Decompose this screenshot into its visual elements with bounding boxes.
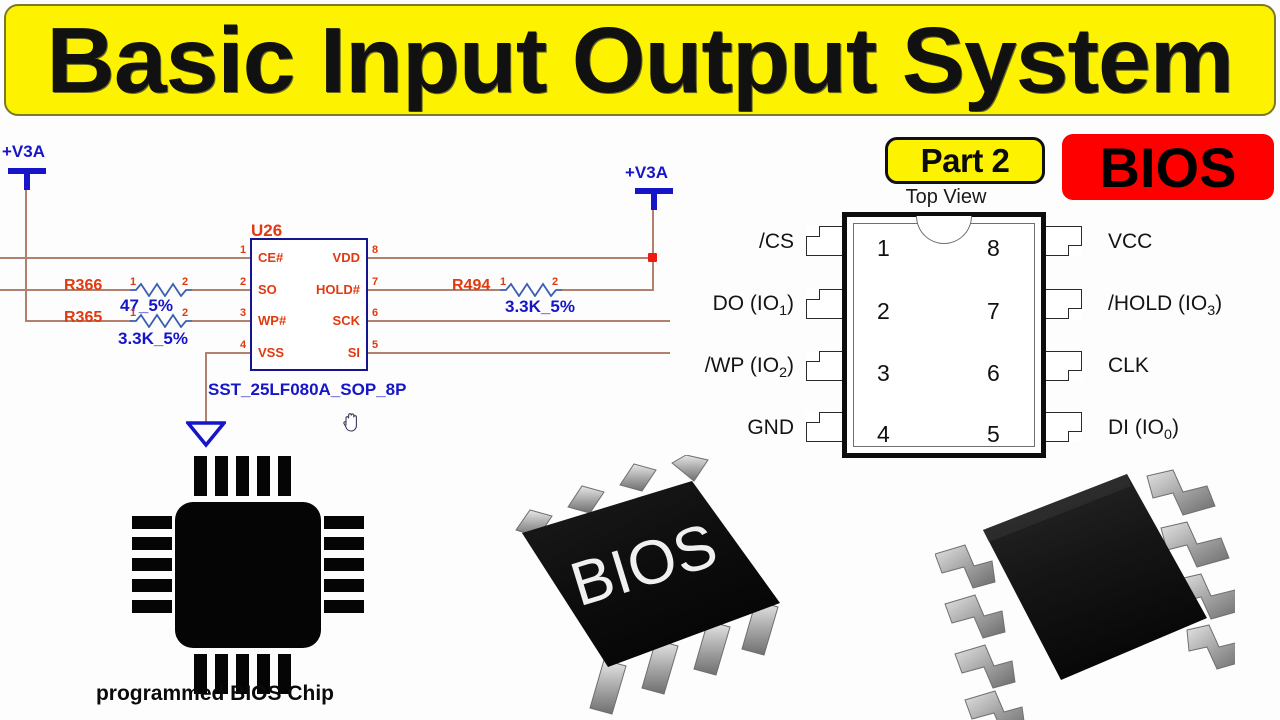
wire-sck-net	[368, 320, 670, 322]
resistor-r494-symbol	[500, 281, 562, 297]
pinout-label-gnd: GND	[616, 417, 794, 438]
part-badge-label: Part 2	[921, 142, 1010, 180]
pinout-label-clk: CLK	[1108, 355, 1149, 376]
resistor-r366-symbol	[130, 281, 192, 297]
pinout-label-wp: /WP (IO2)	[616, 355, 794, 380]
wire-r366-to-pin2	[192, 289, 250, 291]
pinout-lead-2	[806, 289, 842, 319]
chip-pinname-sck: SCK	[300, 314, 360, 327]
screenshot-root: Basic Input Output System Part 2 BIOS +V…	[0, 0, 1280, 720]
ground-symbol	[186, 420, 226, 448]
programmed-bios-chip-icon	[120, 450, 376, 678]
wire-r365-to-pin3	[192, 320, 250, 322]
pinout-view-label: Top View	[881, 186, 1011, 209]
pinout-number-5: 5	[987, 423, 1000, 446]
wire-net-ce	[0, 257, 250, 259]
chip-pinname-vdd: VDD	[300, 251, 360, 264]
resistor-r365-value: 3.3K_5%	[118, 330, 188, 347]
power-symbol-left	[8, 168, 46, 192]
pinout-number-8: 8	[987, 237, 1000, 260]
pinout-label-di: DI (IO0)	[1108, 417, 1179, 442]
chip-pinnum-3: 3	[240, 308, 246, 319]
chip-pinnum-5: 5	[372, 340, 378, 351]
chip-pinname-vss: VSS	[258, 346, 284, 359]
chip-pinname-si: SI	[300, 346, 360, 359]
pinout-lead-8	[1046, 226, 1082, 256]
pinout-lead-1	[806, 226, 842, 256]
chip-pinname-so: SO	[258, 283, 277, 296]
power-symbol-right	[635, 188, 673, 212]
hand-cursor-icon	[341, 411, 361, 433]
bios-badge: BIOS	[1062, 134, 1274, 200]
pinout-number-6: 6	[987, 362, 1000, 385]
pinout-number-3: 3	[877, 362, 890, 385]
page-title: Basic Input Output System	[47, 14, 1234, 107]
chip-pinnum-2: 2	[240, 277, 246, 288]
resistor-r365-symbol	[130, 312, 192, 328]
pinout-lead-7	[1046, 289, 1082, 319]
pinout-number-4: 4	[877, 423, 890, 446]
pinout-number-2: 2	[877, 300, 890, 323]
chip-pinnum-8: 8	[372, 245, 378, 256]
pinout-label-do: DO (IO1)	[616, 293, 794, 318]
bios-chip-photo: BIOS	[480, 455, 810, 720]
power-label-left: +V3A	[2, 143, 45, 160]
soic8-chip-photo	[935, 458, 1235, 720]
wire-power-left-to-r365	[25, 320, 65, 322]
chip-pinname-hold: HOLD#	[296, 283, 360, 296]
resistor-r366-refdes: R366	[64, 278, 102, 294]
pinout-lead-3	[806, 351, 842, 381]
pinout-lead-5	[1046, 412, 1082, 442]
pinout-label-cs: /CS	[616, 231, 794, 252]
bios-badge-label: BIOS	[1100, 135, 1237, 200]
resistor-r494-refdes: R494	[452, 278, 490, 294]
chip-pinname-ce: CE#	[258, 251, 283, 264]
programmed-bios-chip-caption: programmed BIOS Chip	[40, 682, 390, 706]
resistor-r365-refdes: R365	[64, 310, 102, 326]
wire-vss-vertical	[205, 352, 207, 422]
chip-pinnum-6: 6	[372, 308, 378, 319]
wire-vss-horizontal	[205, 352, 250, 354]
title-banner: Basic Input Output System	[4, 4, 1276, 116]
pinout-lead-6	[1046, 351, 1082, 381]
pinout-label-vcc: VCC	[1108, 231, 1152, 252]
net-junction-dot	[648, 253, 657, 262]
chip-refdes: U26	[251, 222, 282, 239]
wire-vdd-to-junction	[368, 257, 654, 259]
chip-pinname-wp: WP#	[258, 314, 286, 327]
wire-si-net	[368, 352, 670, 354]
chip-part-number: SST_25LF080A_SOP_8P	[208, 381, 406, 398]
chip-pinnum-1: 1	[240, 245, 246, 256]
chip-pinnum-7: 7	[372, 277, 378, 288]
pinout-number-7: 7	[987, 300, 1000, 323]
wire-power-left-vertical	[25, 190, 27, 322]
pinout-lead-4	[806, 412, 842, 442]
pinout-package-body: 1 2 3 4 8 7 6 5	[842, 212, 1046, 458]
pinout-label-hold: /HOLD (IO3)	[1108, 293, 1222, 318]
pinout-number-1: 1	[877, 237, 890, 260]
chip-pinnum-4: 4	[240, 340, 246, 351]
wire-rail-right-drop	[652, 257, 654, 291]
resistor-r494-value: 3.3K_5%	[505, 298, 575, 315]
power-label-right: +V3A	[625, 164, 668, 181]
part-badge: Part 2	[885, 137, 1045, 184]
wire-r494-to-rail	[562, 289, 654, 291]
